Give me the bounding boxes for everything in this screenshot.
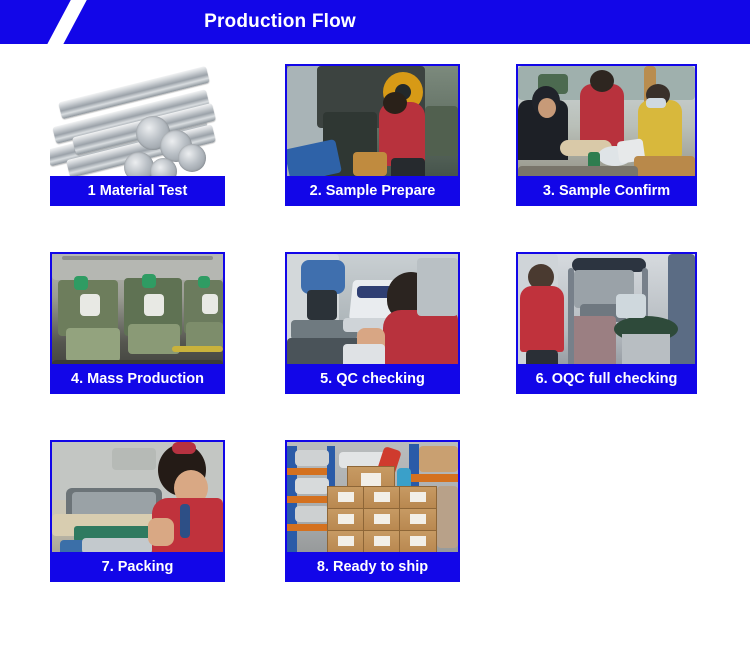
step-image-7 bbox=[50, 440, 225, 570]
step-caption-6: 6. OQC full checking bbox=[516, 364, 697, 394]
step-card-4[interactable]: 4. Mass Production bbox=[50, 252, 225, 382]
step-caption-5: 5. QC checking bbox=[285, 364, 460, 394]
step-card-1[interactable]: 1 Material Test bbox=[50, 64, 225, 194]
step-caption-8: 8. Ready to ship bbox=[285, 552, 460, 582]
step-image-6 bbox=[516, 252, 697, 382]
step-image-5 bbox=[285, 252, 460, 382]
step-image-2 bbox=[285, 64, 460, 194]
step-image-1 bbox=[50, 64, 225, 194]
step-caption-7: 7. Packing bbox=[50, 552, 225, 582]
step-caption-2: 2. Sample Prepare bbox=[285, 176, 460, 206]
step-card-8[interactable]: 8. Ready to ship bbox=[285, 440, 460, 570]
step-image-3 bbox=[516, 64, 697, 194]
step-caption-3: 3. Sample Confirm bbox=[516, 176, 697, 206]
page-title: Production Flow bbox=[0, 0, 560, 44]
step-image-8 bbox=[285, 440, 460, 570]
step-card-3[interactable]: 3. Sample Confirm bbox=[516, 64, 691, 194]
step-card-2[interactable]: 2. Sample Prepare bbox=[285, 64, 460, 194]
page-header: Production Flow bbox=[0, 0, 750, 44]
step-card-6[interactable]: 6. OQC full checking bbox=[516, 252, 691, 382]
step-caption-4: 4. Mass Production bbox=[50, 364, 225, 394]
step-image-4 bbox=[50, 252, 225, 382]
production-flow-grid: 1 Material Test 2. Sample Prepare bbox=[0, 44, 750, 647]
step-caption-1: 1 Material Test bbox=[50, 176, 225, 206]
step-card-7[interactable]: 7. Packing bbox=[50, 440, 225, 570]
step-card-5[interactable]: 5. QC checking bbox=[285, 252, 460, 382]
